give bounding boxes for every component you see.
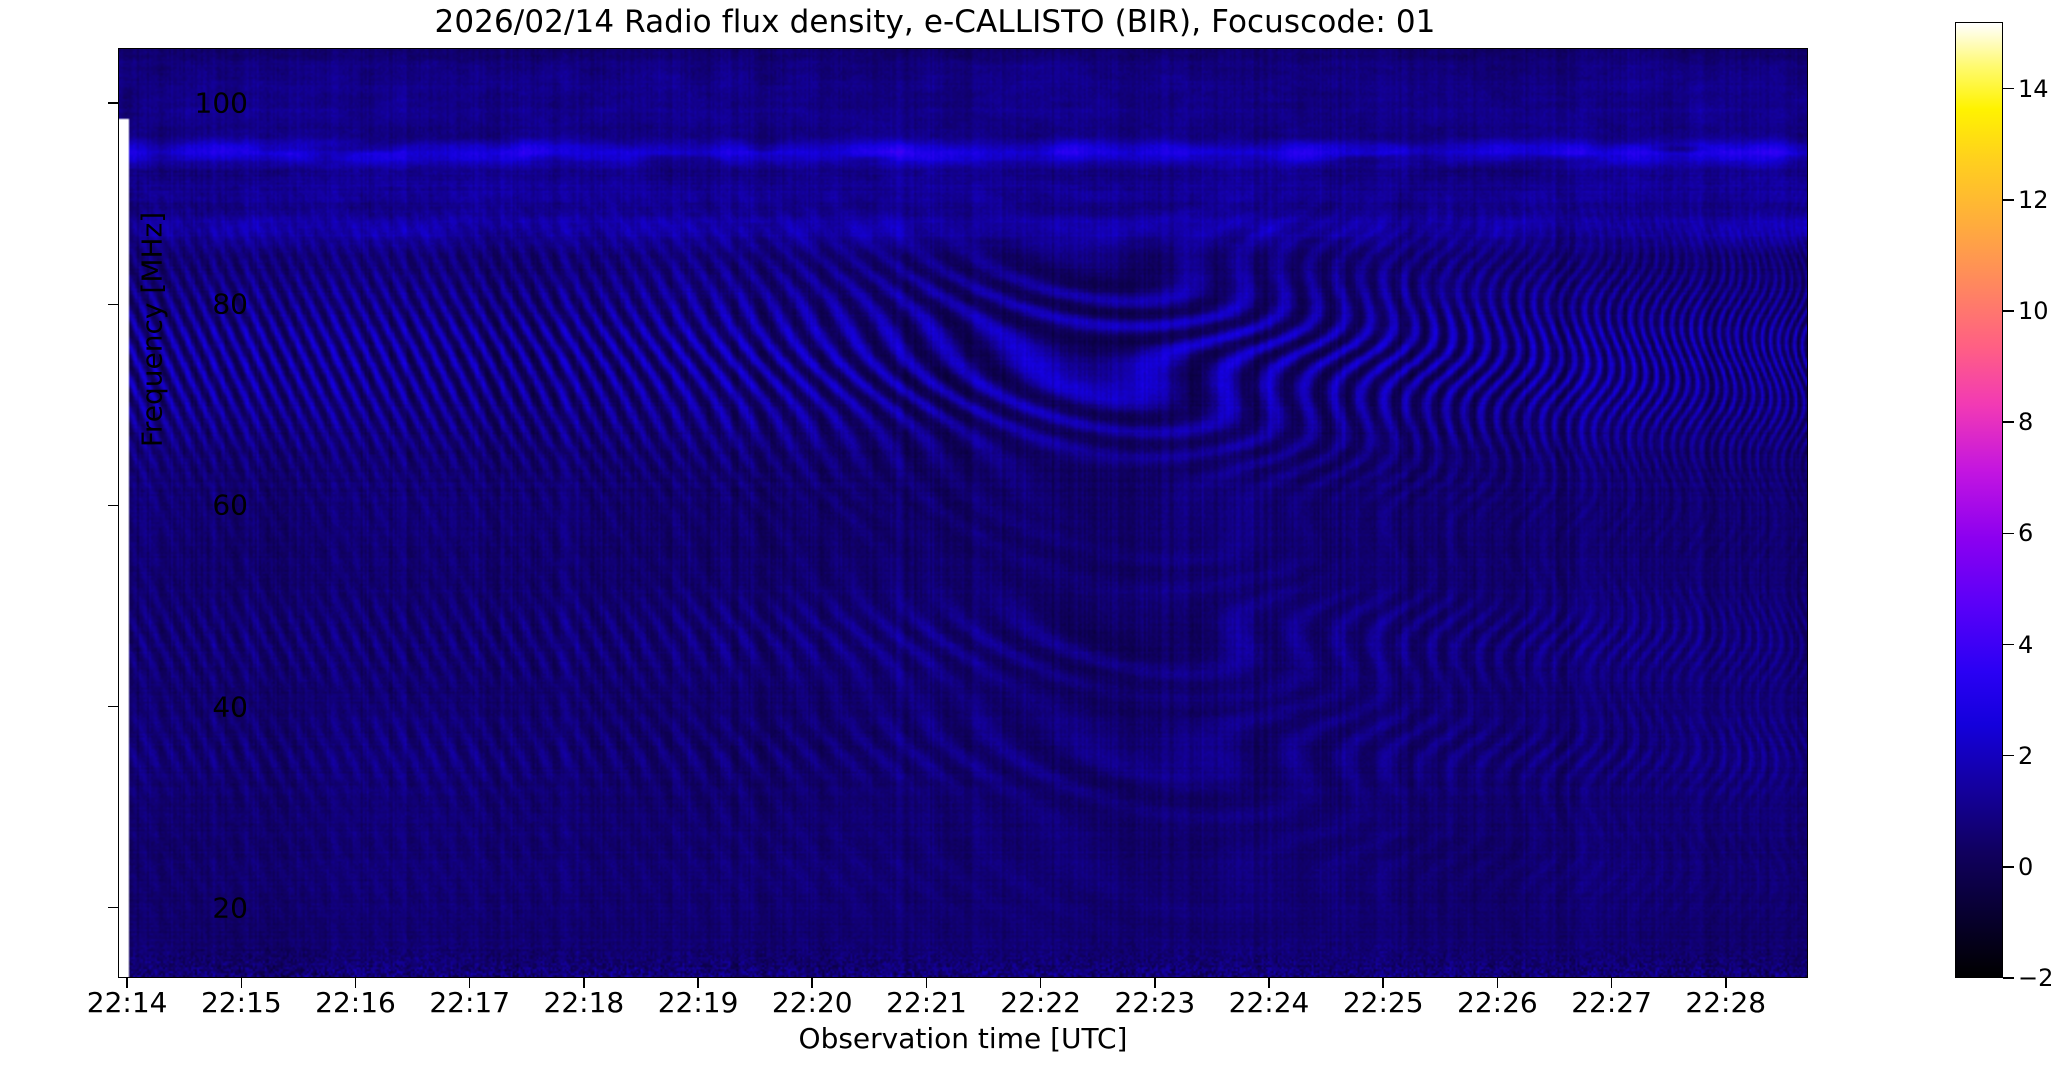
x-tick-mark: [355, 978, 357, 988]
x-tick-mark: [469, 978, 471, 988]
x-tick-mark: [1040, 978, 1042, 988]
x-tick-label: 22:27: [1571, 986, 1652, 1019]
y-tick-label: 80: [128, 288, 248, 321]
y-tick-mark: [108, 505, 118, 507]
colorbar-tick-label: 0: [2018, 853, 2033, 881]
y-tick-mark: [108, 102, 118, 104]
colorbar-tick-mark: [2003, 533, 2014, 535]
y-axis-label: Frequency [MHz]: [136, 130, 169, 530]
colorbar-tick-label: 8: [2018, 408, 2033, 436]
x-tick-mark: [1268, 978, 1270, 988]
y-tick-mark: [108, 304, 118, 306]
x-tick-mark: [697, 978, 699, 988]
y-tick-label: 100: [128, 87, 248, 120]
x-tick-mark: [1154, 978, 1156, 988]
y-tick-mark: [108, 706, 118, 708]
colorbar-tick-label: 14: [2018, 75, 2049, 103]
x-tick-label: 22:15: [201, 986, 282, 1019]
colorbar-tick-mark: [2003, 644, 2014, 646]
colorbar-tick-label: 2: [2018, 742, 2033, 770]
x-tick-mark: [1725, 978, 1727, 988]
x-tick-mark: [1497, 978, 1499, 988]
colorbar-tick-mark: [2003, 199, 2014, 201]
colorbar: [1955, 22, 2003, 978]
colorbar-tick-mark: [2003, 977, 2014, 979]
x-tick-label: 22:24: [1229, 986, 1310, 1019]
colorbar-tick-label: 4: [2018, 631, 2033, 659]
x-tick-label: 22:16: [315, 986, 396, 1019]
x-tick-label: 22:28: [1685, 986, 1766, 1019]
x-tick-label: 22:26: [1457, 986, 1538, 1019]
colorbar-gradient: [1956, 23, 2002, 977]
x-tick-mark: [1611, 978, 1613, 988]
spectrogram-figure: 2026/02/14 Radio flux density, e-CALLIST…: [0, 0, 2066, 1067]
x-tick-label: 22:20: [772, 986, 853, 1019]
y-tick-mark: [108, 907, 118, 909]
colorbar-tick-mark: [2003, 310, 2014, 312]
spectrogram-image: [119, 49, 1807, 977]
x-tick-mark: [926, 978, 928, 988]
x-tick-mark: [811, 978, 813, 988]
x-tick-label: 22:17: [429, 986, 510, 1019]
x-tick-label: 22:22: [1000, 986, 1081, 1019]
colorbar-tick-mark: [2003, 755, 2014, 757]
page-title: 2026/02/14 Radio flux density, e-CALLIST…: [0, 4, 1870, 40]
colorbar-tick-mark: [2003, 421, 2014, 423]
colorbar-tick-label: −2: [2018, 964, 2053, 992]
y-tick-label: 20: [128, 891, 248, 924]
colorbar-tick-mark: [2003, 866, 2014, 868]
x-tick-label: 22:21: [886, 986, 967, 1019]
x-tick-mark: [241, 978, 243, 988]
colorbar-tick-label: 10: [2018, 297, 2049, 325]
x-tick-label: 22:18: [544, 986, 625, 1019]
x-axis-label: Observation time [UTC]: [118, 1022, 1808, 1055]
x-tick-label: 22:25: [1343, 986, 1424, 1019]
colorbar-tick-label: 6: [2018, 519, 2033, 547]
colorbar-tick-mark: [2003, 88, 2014, 90]
colorbar-tick-label: 12: [2018, 186, 2049, 214]
x-tick-mark: [583, 978, 585, 988]
y-tick-label: 60: [128, 489, 248, 522]
x-tick-label: 22:19: [658, 986, 739, 1019]
x-tick-mark: [126, 978, 128, 988]
x-tick-mark: [1382, 978, 1384, 988]
x-tick-label: 22:14: [87, 986, 168, 1019]
spectrogram-plot-area: [118, 48, 1808, 978]
x-tick-label: 22:23: [1114, 986, 1195, 1019]
y-tick-label: 40: [128, 690, 248, 723]
